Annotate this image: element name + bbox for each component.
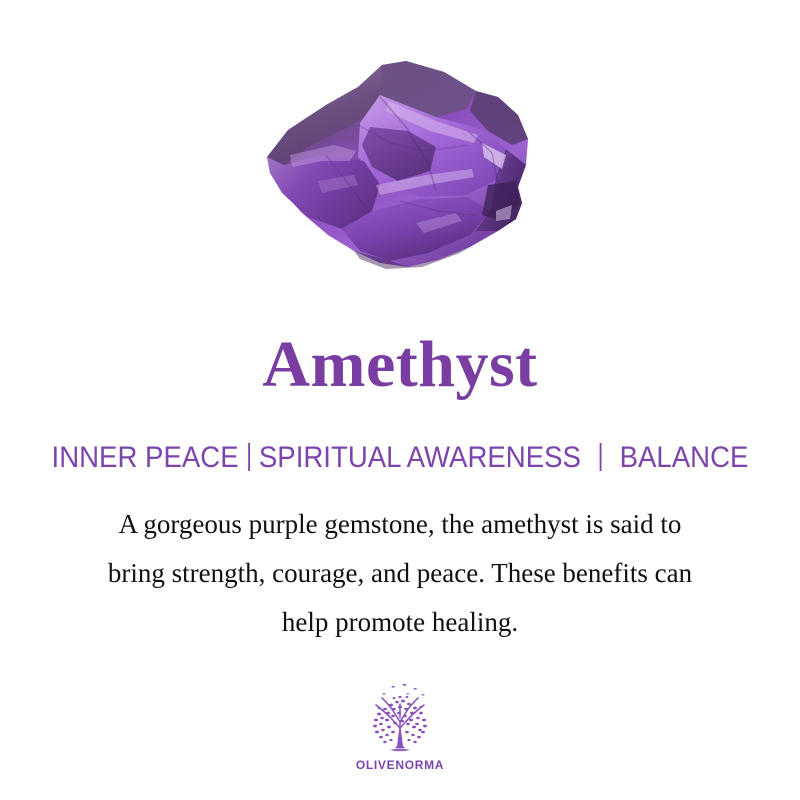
description-line-1: A gorgeous purple gemstone, the amethyst…: [60, 500, 740, 549]
keyword-balance: BALANCE: [620, 441, 749, 474]
olive-tree-logo-icon: [358, 682, 442, 758]
product-description: A gorgeous purple gemstone, the amethyst…: [60, 500, 740, 647]
keyword-list: INNER PEACESPIRITUAL AWARENESSBALANCE: [32, 441, 768, 474]
description-line-3: help promote healing.: [60, 598, 740, 647]
product-info-card: Amethyst INNER PEACESPIRITUAL AWARENESSB…: [0, 0, 800, 800]
tree-trunk: [395, 723, 405, 748]
amethyst-raw-crystal-icon: [230, 35, 570, 285]
brand-logo[interactable]: OLIVENORMA: [0, 682, 800, 771]
keyword-spiritual-awareness: SPIRITUAL AWARENESS: [259, 441, 581, 474]
description-line-2: bring strength, courage, and peace. Thes…: [60, 549, 740, 598]
brand-name: OLIVENORMA: [356, 759, 444, 771]
tree-ground: [390, 749, 410, 752]
gemstone-image-container: [0, 0, 800, 320]
keyword-separator-1: [248, 443, 250, 471]
keyword-inner-peace: INNER PEACE: [52, 441, 239, 474]
keyword-separator-2: [599, 443, 601, 471]
page-title: Amethyst: [0, 332, 800, 398]
tree-birds: [382, 684, 425, 696]
